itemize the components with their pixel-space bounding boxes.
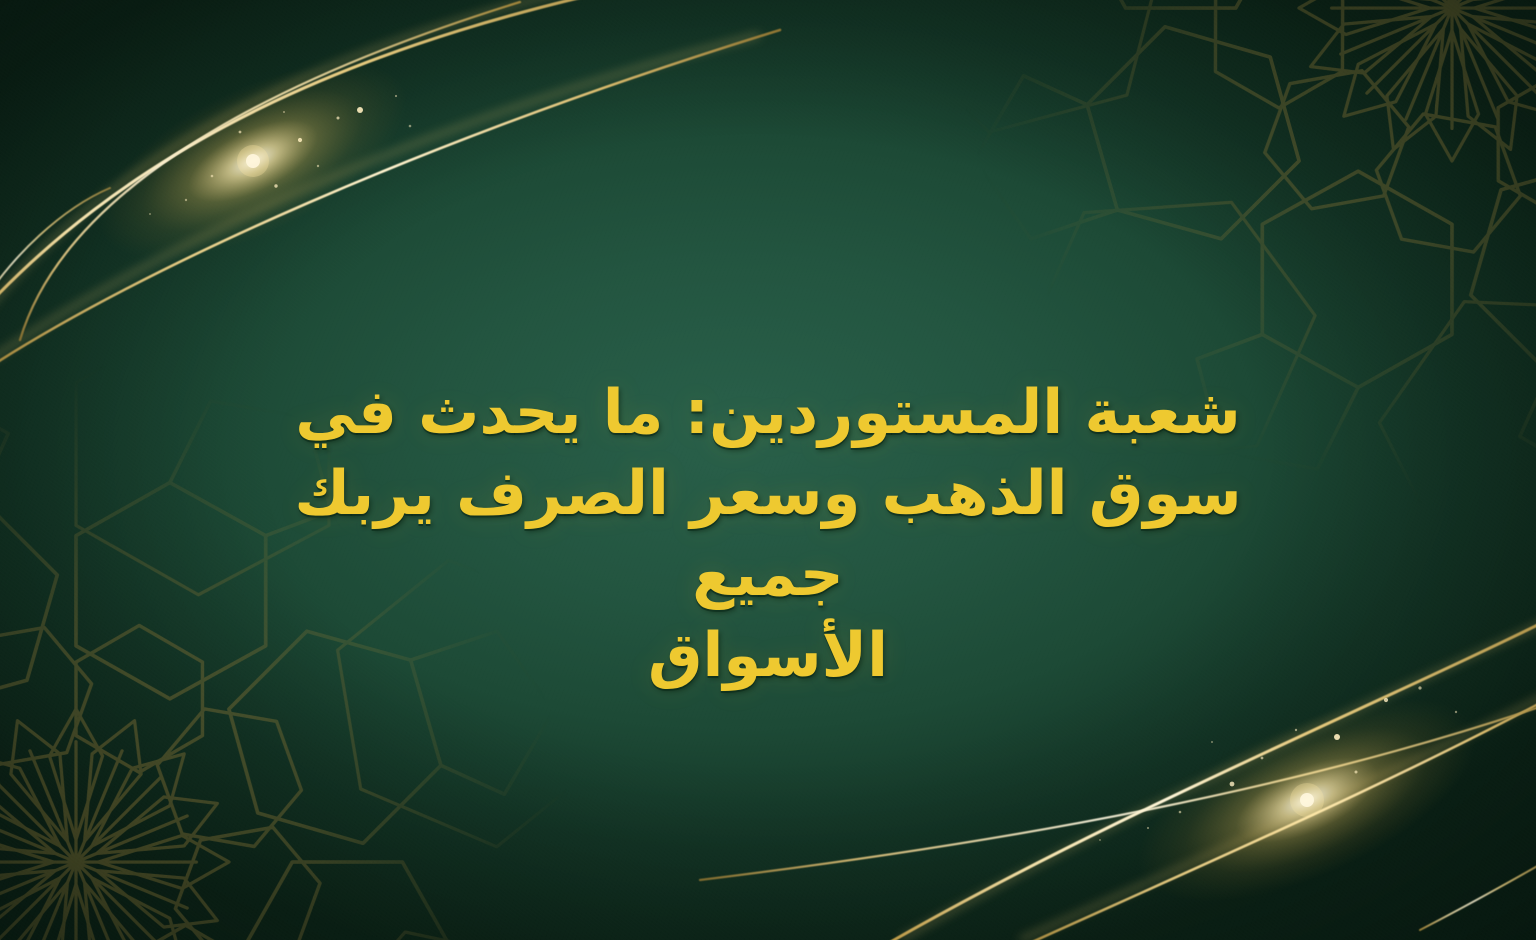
page-title: شعبة المستوردين: ما يحدث في سوق الذهب وس…: [228, 372, 1308, 697]
headline-line-2: سوق الذهب وسعر الصرف يربك جميع: [294, 458, 1241, 610]
banner-canvas: شعبة المستوردين: ما يحدث في سوق الذهب وس…: [0, 0, 1536, 940]
headline-line-1: شعبة المستوردين: ما يحدث في: [295, 377, 1241, 448]
headline-line-3: الأسواق: [648, 620, 888, 691]
gold-swoosh-top-left: [0, 0, 780, 372]
headline-container: شعبة المستوردين: ما يحدث في سوق الذهب وس…: [0, 372, 1536, 697]
